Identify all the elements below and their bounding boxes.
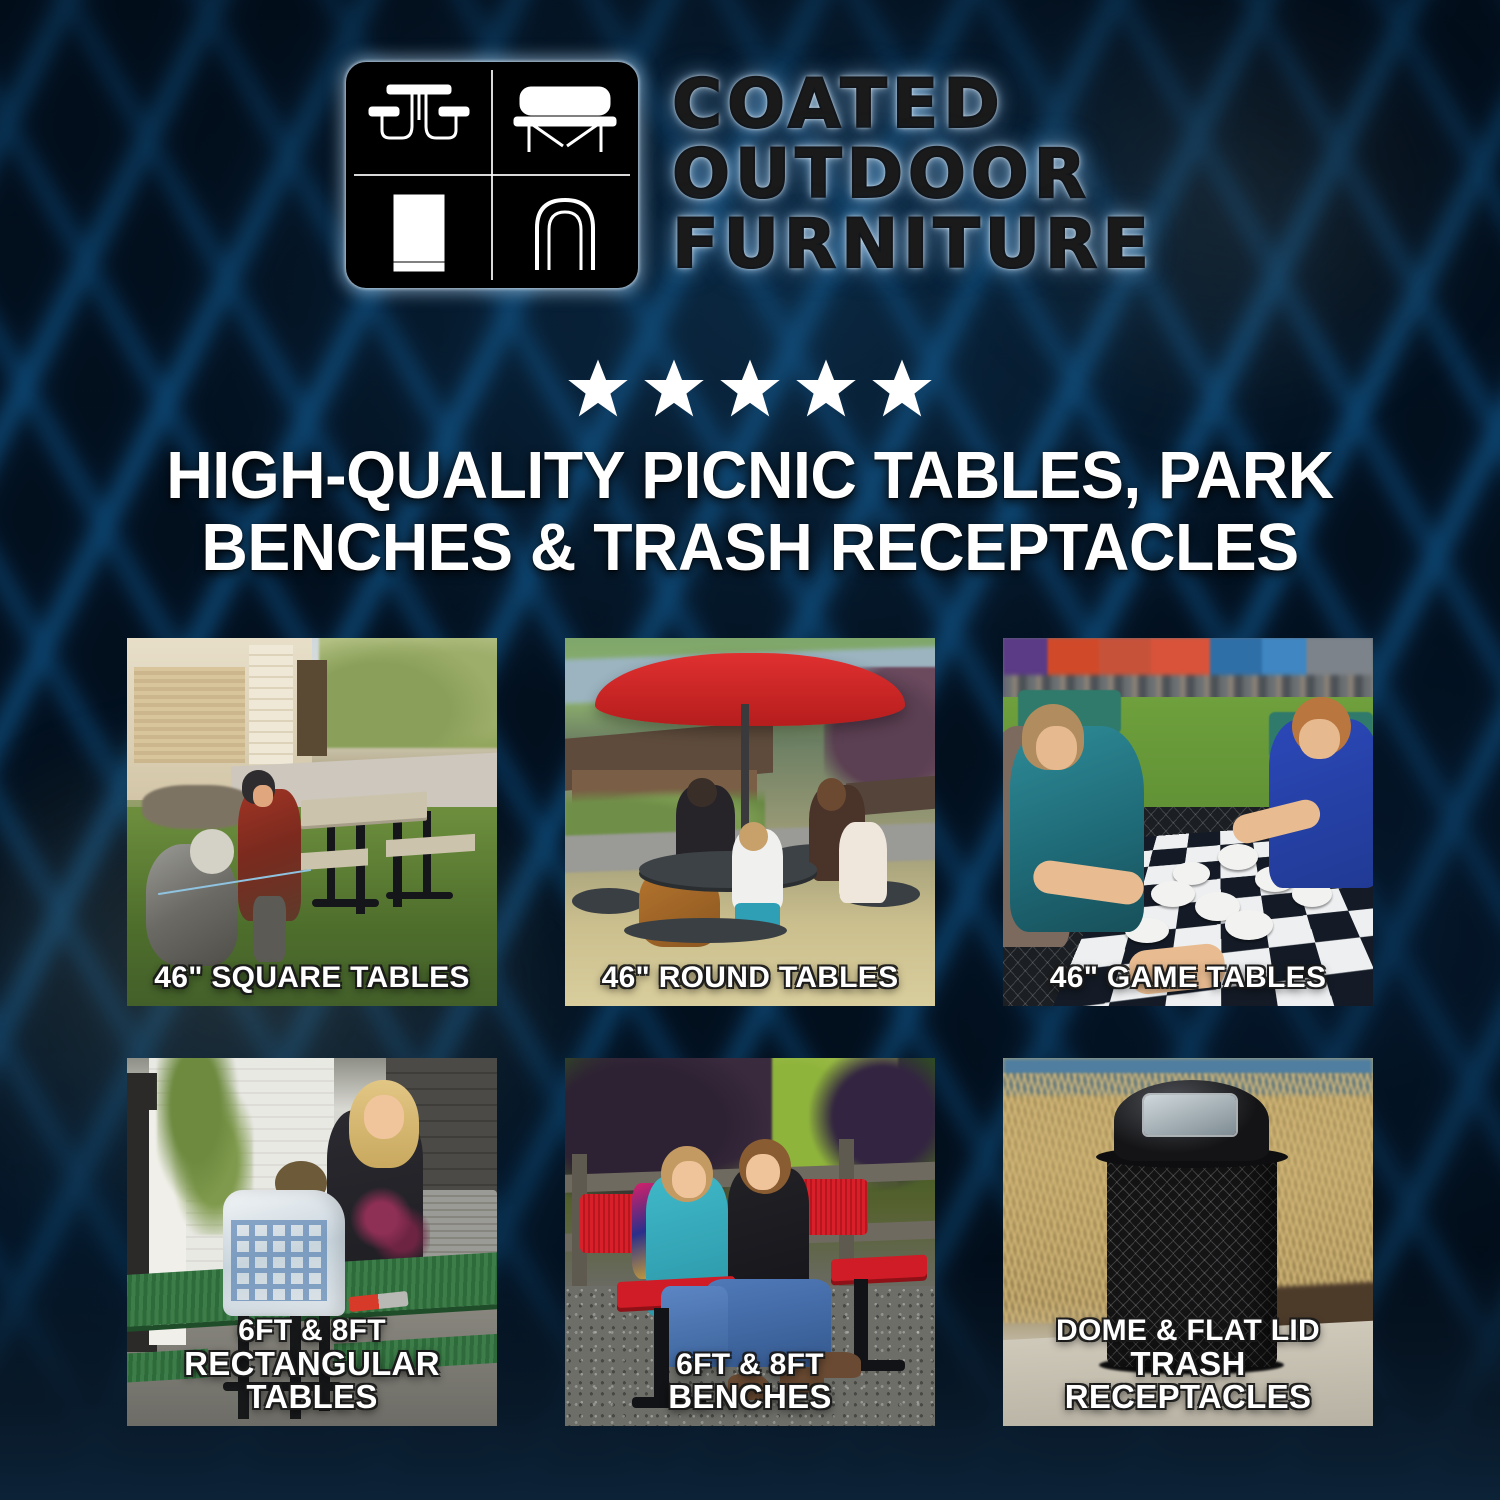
star-icon-1 [567,358,629,418]
product-photo-square-tables [127,638,497,1006]
caption-line-1: 6FT & 8FT [238,1314,386,1347]
product-caption-benches: 6FT & 8FT BENCHES [571,1350,929,1414]
promo-page: COATED OUTDOOR FURNITURE HIGH-QUALITY PI… [0,0,1500,1500]
caption-line-1: DOME & FLAT LID [1056,1314,1320,1347]
star-icon-3 [719,358,781,418]
product-tile-round-tables[interactable]: 46" ROUND TABLES [565,638,935,1006]
logo-word-line-3: FURNITURE [672,211,1154,279]
product-caption-trash-receptacles: DOME & FLAT LID TRASH RECEPTACLES [1009,1316,1367,1414]
brand-logo: COATED OUTDOOR FURNITURE [0,62,1500,288]
product-tile-trash-receptacles[interactable]: DOME & FLAT LID TRASH RECEPTACLES [1003,1058,1373,1426]
caption-line-1: 46" GAME TABLES [1050,961,1327,994]
caption-line-2: RECTANGULAR TABLES [133,1347,491,1414]
picnic-table-icon [346,62,492,175]
star-icon-4 [795,358,857,418]
caption-line-1: 46" SQUARE TABLES [154,961,470,994]
caption-line-1: 6FT & 8FT [676,1348,824,1381]
star-icon-5 [871,358,933,418]
caption-line-2: BENCHES [571,1380,929,1414]
product-photo-game-tables [1003,638,1373,1006]
logo-grid-divider-horizontal [354,174,630,176]
logo-word-line-2: OUTDOOR [672,141,1154,209]
caption-line-2: TRASH RECEPTACLES [1009,1347,1367,1414]
product-tile-rectangular-tables[interactable]: 6FT & 8FT RECTANGULAR TABLES [127,1058,497,1426]
bike-rack-icon [492,175,638,288]
headline-line-1: HIGH-QUALITY PICNIC TABLES, PARK [88,440,1413,512]
product-caption-rectangular-tables: 6FT & 8FT RECTANGULAR TABLES [133,1316,491,1414]
product-grid: 46" SQUARE TABLES [127,638,1373,1426]
product-caption-game-tables: 46" GAME TABLES [1009,963,1367,994]
product-caption-square-tables: 46" SQUARE TABLES [133,963,491,994]
star-icon-2 [643,358,705,418]
park-bench-icon [492,62,638,175]
headline-line-2: BENCHES & TRASH RECEPTACLES [88,512,1413,584]
trash-receptacle-icon [346,175,492,288]
rating-stars [0,358,1500,418]
product-tile-square-tables[interactable]: 46" SQUARE TABLES [127,638,497,1006]
product-tile-benches[interactable]: 6FT & 8FT BENCHES [565,1058,935,1426]
product-photo-round-tables [565,638,935,1006]
product-caption-round-tables: 46" ROUND TABLES [571,963,929,994]
page-title: HIGH-QUALITY PICNIC TABLES, PARK BENCHES… [88,440,1413,585]
logo-wordmark: COATED OUTDOOR FURNITURE [672,71,1154,279]
logo-word-line-1: COATED [672,71,1154,139]
logo-icon-grid [346,62,638,288]
caption-line-1: 46" ROUND TABLES [602,961,899,994]
product-tile-game-tables[interactable]: 46" GAME TABLES [1003,638,1373,1006]
